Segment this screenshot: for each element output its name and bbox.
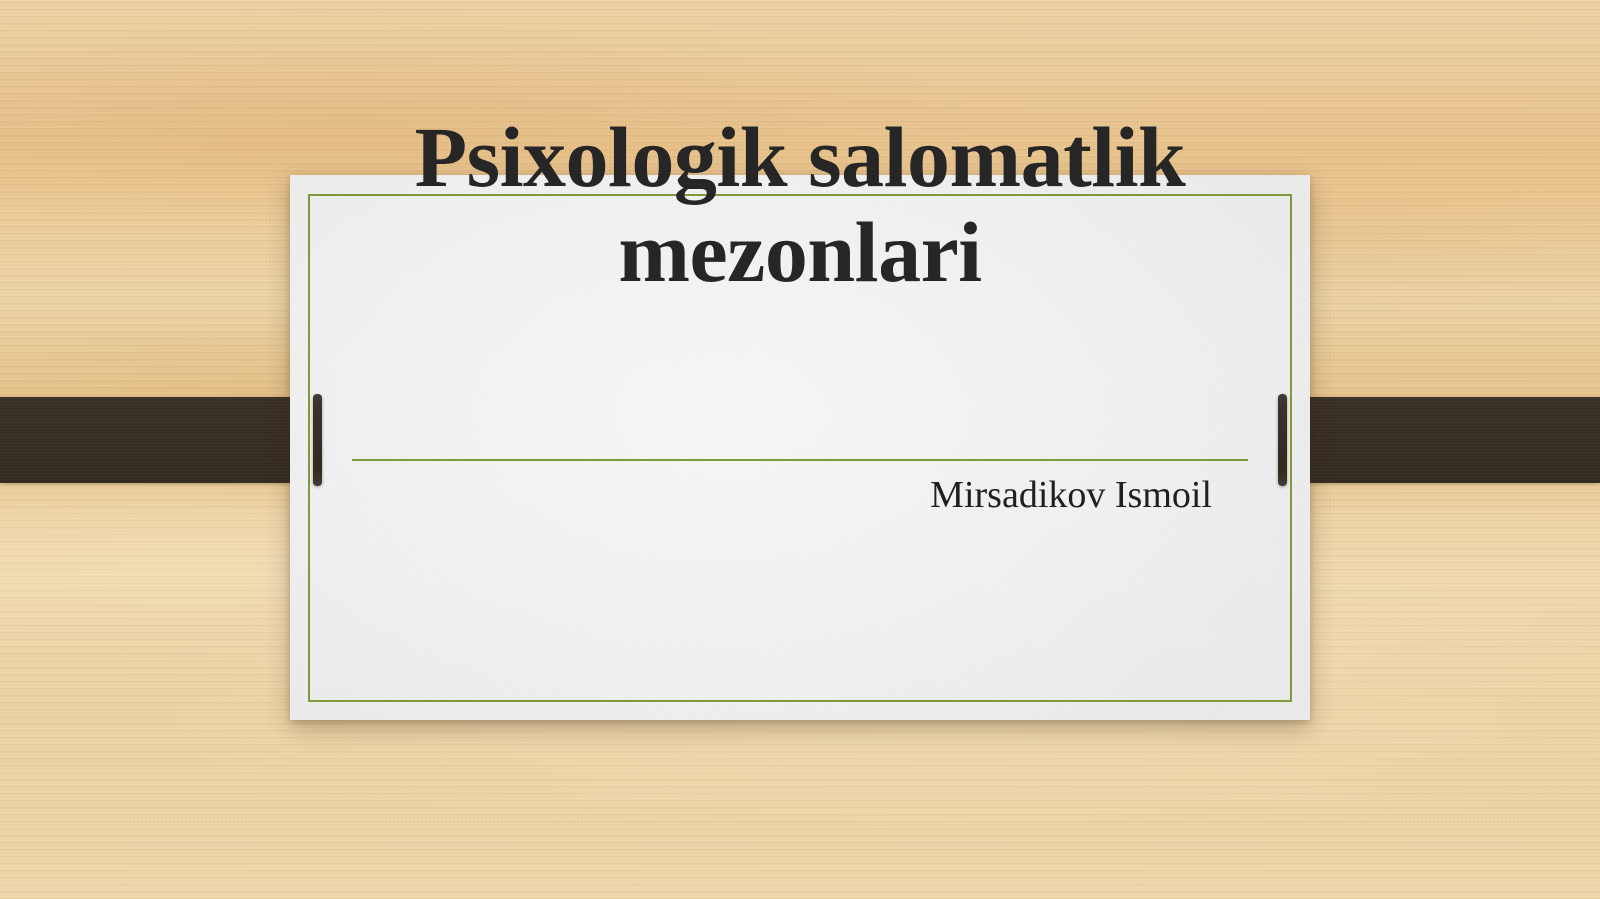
band-left-end-cap	[313, 394, 322, 486]
decorative-band-right	[1278, 397, 1600, 483]
decorative-band-left	[0, 397, 322, 483]
band-right-end-cap	[1278, 394, 1287, 486]
card-paper-texture	[290, 175, 1310, 720]
card-inner-green-border	[308, 194, 1292, 702]
title-card	[290, 175, 1310, 720]
title-slide: Psixologik salomatlik mezonlari Mirsadik…	[0, 0, 1600, 899]
